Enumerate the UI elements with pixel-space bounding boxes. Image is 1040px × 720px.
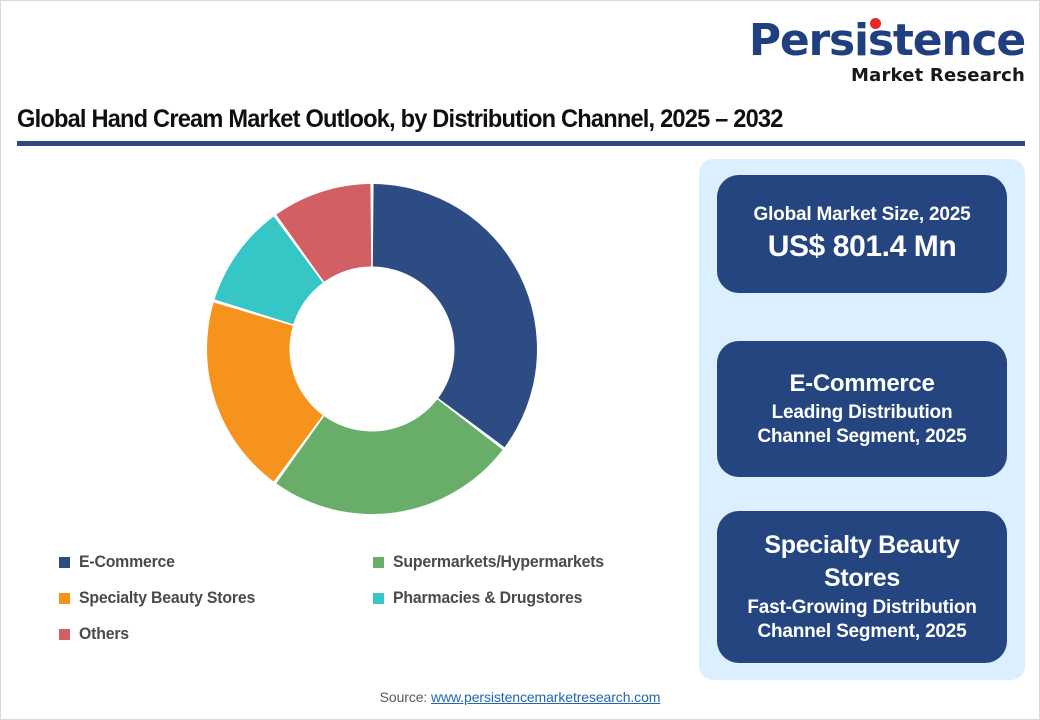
legend-swatch-icon bbox=[59, 557, 70, 568]
source-link[interactable]: www.persistencemarketresearch.com bbox=[431, 689, 660, 705]
kpi-fastgrowing-line2: Channel Segment, 2025 bbox=[757, 620, 966, 643]
legend-item[interactable]: Others bbox=[59, 616, 373, 652]
legend-item[interactable]: Pharmacies & Drugstores bbox=[373, 580, 687, 616]
kpi-card-leading-segment: E-Commerce Leading Distribution Channel … bbox=[717, 341, 1007, 477]
donut-slice-group bbox=[207, 184, 537, 514]
title-divider bbox=[17, 141, 1025, 146]
brand-tagline: Market Research bbox=[749, 67, 1025, 85]
legend-swatch-icon bbox=[373, 557, 384, 568]
legend-item[interactable]: Specialty Beauty Stores bbox=[59, 580, 373, 616]
brand-dot-icon bbox=[870, 18, 881, 29]
legend-item-label: E-Commerce bbox=[79, 553, 175, 572]
kpi-market-size-value: US$ 801.4 Mn bbox=[768, 229, 957, 265]
brand-name: Persistence bbox=[749, 15, 1025, 66]
legend-swatch-icon bbox=[59, 629, 70, 640]
chart-legend: E-CommerceSupermarkets/HypermarketsSpeci… bbox=[59, 544, 687, 652]
kpi-leading-heading: E-Commerce bbox=[789, 370, 934, 398]
kpi-card-fast-growing-segment: Specialty Beauty Stores Fast-Growing Dis… bbox=[717, 511, 1007, 663]
donut-slice[interactable] bbox=[373, 184, 537, 447]
kpi-card-market-size: Global Market Size, 2025 US$ 801.4 Mn bbox=[717, 175, 1007, 293]
kpi-leading-line2: Channel Segment, 2025 bbox=[757, 425, 966, 448]
kpi-market-size-caption: Global Market Size, 2025 bbox=[754, 203, 971, 226]
donut-chart-svg bbox=[202, 179, 542, 519]
title-block: Global Hand Cream Market Outlook, by Dis… bbox=[17, 105, 1025, 146]
legend-swatch-icon bbox=[59, 593, 70, 604]
legend-item-label: Others bbox=[79, 625, 129, 644]
donut-chart bbox=[202, 179, 542, 519]
source-prefix: Source: bbox=[380, 689, 431, 705]
legend-item-label: Specialty Beauty Stores bbox=[79, 589, 255, 608]
brand-name-wrap: Persistence bbox=[749, 19, 1025, 63]
kpi-fastgrowing-heading-line2: Stores bbox=[824, 564, 900, 594]
legend-item[interactable]: Supermarkets/Hypermarkets bbox=[373, 544, 687, 580]
infographic-root: Persistence Market Research Global Hand … bbox=[0, 0, 1040, 720]
source-note: Source: www.persistencemarketresearch.co… bbox=[1, 689, 1039, 705]
chart-area: E-CommerceSupermarkets/HypermarketsSpeci… bbox=[15, 159, 687, 671]
page-title: Global Hand Cream Market Outlook, by Dis… bbox=[17, 105, 970, 134]
legend-item[interactable]: E-Commerce bbox=[59, 544, 373, 580]
kpi-fastgrowing-line1: Fast-Growing Distribution bbox=[747, 596, 976, 619]
legend-item-label: Pharmacies & Drugstores bbox=[393, 589, 582, 608]
brand-logo: Persistence Market Research bbox=[749, 19, 1025, 85]
kpi-panel: Global Market Size, 2025 US$ 801.4 Mn E-… bbox=[699, 159, 1025, 680]
kpi-leading-line1: Leading Distribution bbox=[772, 401, 953, 424]
legend-swatch-icon bbox=[373, 593, 384, 604]
kpi-fastgrowing-heading-line1: Specialty Beauty bbox=[764, 531, 959, 561]
legend-item-label: Supermarkets/Hypermarkets bbox=[393, 553, 604, 572]
